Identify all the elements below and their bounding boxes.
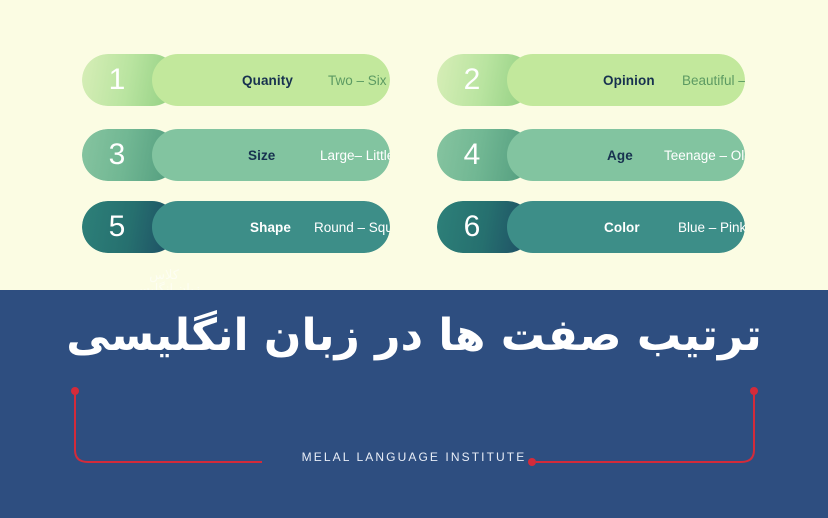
row-number-1: 1 <box>109 65 126 95</box>
row-body-4: Age Teenage – Old <box>507 129 745 181</box>
row-number-6: 6 <box>464 212 481 242</box>
row-number-4: 4 <box>464 140 481 170</box>
row-label-5: Shape <box>250 220 291 235</box>
row-value-6: Blue – Pink <box>678 220 745 235</box>
row-value-2: Beautiful – Bad <box>682 73 745 88</box>
row-label-1: Quanity <box>242 73 293 88</box>
row-number-5: 5 <box>109 212 126 242</box>
row-number-3: 3 <box>109 140 126 170</box>
page-title: ترتیب صفت ها در زبان انگلیسی <box>0 308 828 363</box>
adjective-row-5: 5 Shape Round – Square <box>82 201 390 253</box>
row-body-1: Quanity Two – Six <box>152 54 390 106</box>
bracket-left-dot <box>71 387 79 395</box>
row-label-6: Color <box>604 220 640 235</box>
adjective-row-6: 6 Color Blue – Pink <box>437 201 745 253</box>
adjective-row-3: 3 Size Large– Little <box>82 129 390 181</box>
row-value-3: Large– Little <box>320 148 390 163</box>
row-body-3: Size Large– Little <box>152 129 390 181</box>
adjective-row-1: 1 Quanity Two – Six <box>82 54 390 106</box>
row-body-6: Color Blue – Pink <box>507 201 745 253</box>
title-banner: ترتیب صفت ها در زبان انگلیسی MELAL LANGU… <box>0 290 828 518</box>
institute-name: MELAL LANGUAGE INSTITUTE <box>0 450 828 464</box>
row-value-5: Round – Square <box>314 220 390 235</box>
adjective-row-4: 4 Age Teenage – Old <box>437 129 745 181</box>
row-value-1: Two – Six <box>328 73 387 88</box>
poster-root: 1 Quanity Two – Six 2 Opinion Beautiful … <box>0 0 828 518</box>
row-body-2: Opinion Beautiful – Bad <box>507 54 745 106</box>
adjective-order-panel: 1 Quanity Two – Six 2 Opinion Beautiful … <box>0 0 828 290</box>
row-label-2: Opinion <box>603 73 655 88</box>
bracket-right-dot <box>750 387 758 395</box>
row-label-4: Age <box>607 148 633 163</box>
row-number-2: 2 <box>464 65 481 95</box>
row-label-3: Size <box>248 148 275 163</box>
adjective-row-2: 2 Opinion Beautiful – Bad <box>437 54 745 106</box>
row-value-4: Teenage – Old <box>664 148 745 163</box>
row-body-5: Shape Round – Square <box>152 201 390 253</box>
